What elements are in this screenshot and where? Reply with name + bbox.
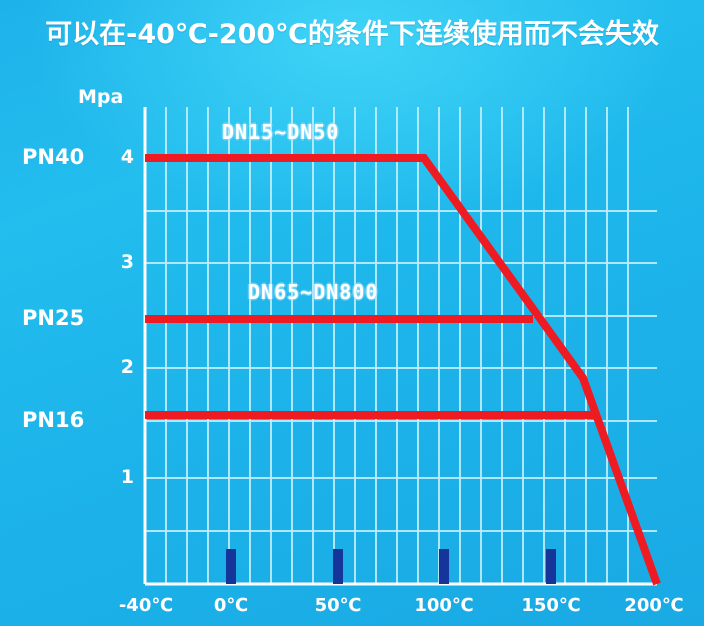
y-tick-4: 4 — [108, 146, 134, 168]
series-label-dn15-dn50: DN15~DN50 — [222, 120, 339, 144]
pn40-label: PN40 — [22, 145, 84, 169]
x-tick-50: 50℃ — [288, 595, 388, 616]
series-label-dn65-dn800: DN65~DN800 — [248, 280, 378, 304]
series-line-pn40 — [145, 158, 657, 584]
x-tick-200: 200℃ — [604, 595, 704, 616]
y-tick-2: 2 — [108, 356, 134, 378]
pn16-label: PN16 — [22, 408, 84, 432]
chart-page: 可以在-40℃-200℃的条件下连续使用而不会失效 — [0, 0, 704, 626]
x-tick-bars — [226, 549, 556, 584]
axis-lines — [145, 107, 657, 584]
y-axis-unit-label: Mpa — [78, 86, 123, 108]
pn25-label: PN25 — [22, 306, 84, 330]
x-tick-100: 100℃ — [394, 595, 494, 616]
y-tick-3: 3 — [108, 251, 134, 273]
x-tick-150: 150℃ — [501, 595, 601, 616]
y-tick-1: 1 — [108, 466, 134, 488]
x-tick-0: 0℃ — [181, 595, 281, 616]
